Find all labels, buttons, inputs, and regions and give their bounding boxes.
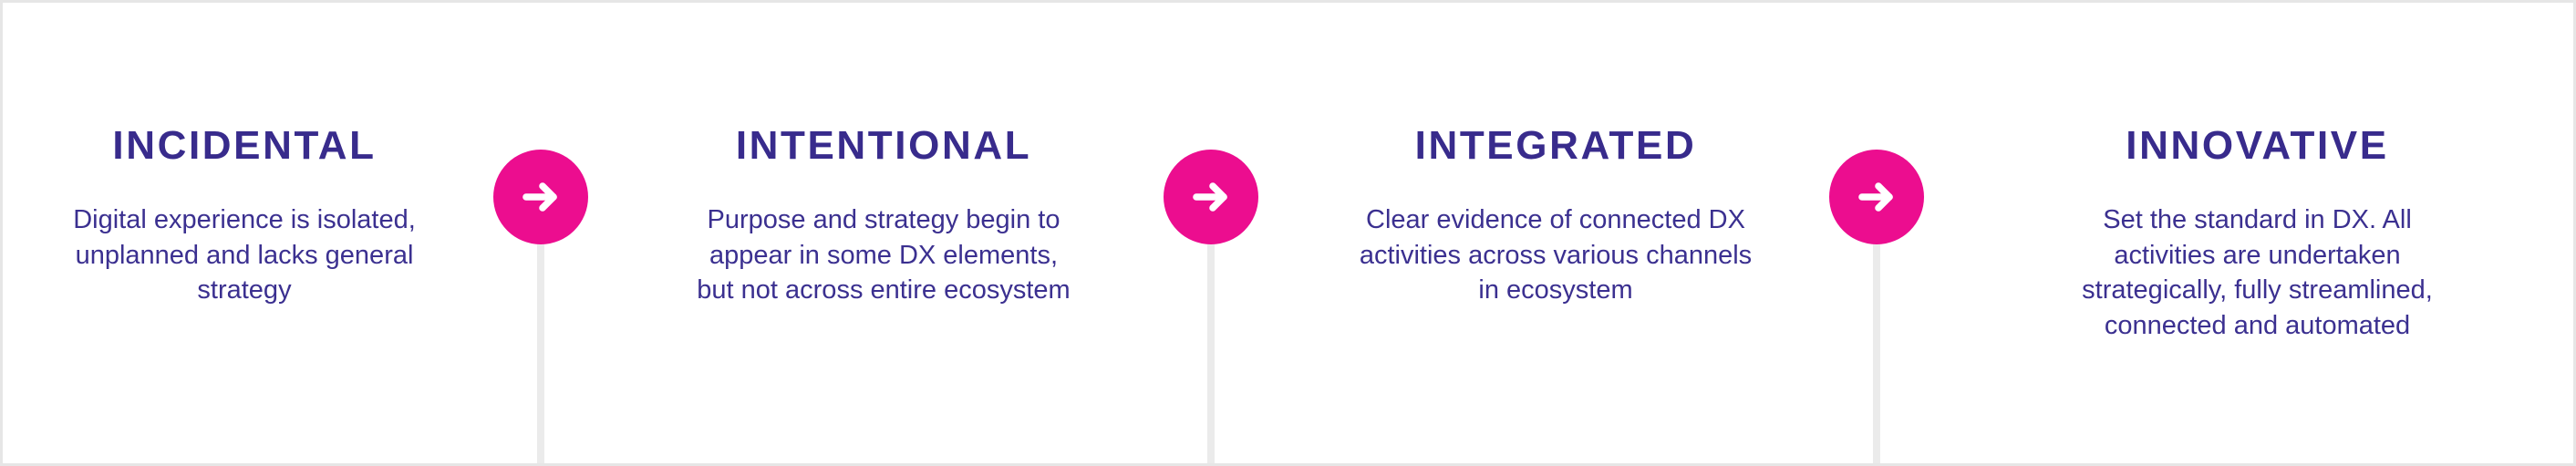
stage-description-line: connected and automated — [2027, 308, 2488, 344]
connector-3 — [1829, 3, 1924, 466]
arrow-right-icon — [1852, 172, 1901, 222]
maturity-model-diagram: INCIDENTAL Digital experience is isolate… — [0, 0, 2576, 466]
stage-title: INNOVATIVE — [1936, 126, 2576, 166]
stage-description-line: appear in some DX elements, — [618, 238, 1149, 274]
stage-description-line: unplanned and lacks general — [44, 238, 445, 274]
stage-description: Clear evidence of connected DX activitie… — [1273, 202, 1838, 308]
stage-description-line: strategically, fully streamlined, — [2027, 273, 2488, 308]
stage-integrated: INTEGRATED Clear evidence of connected D… — [1273, 3, 1838, 308]
stage-description: Digital experience is isolated, unplanne… — [3, 202, 486, 308]
arrow-right-icon — [516, 172, 565, 222]
stage-description-line: strategy — [44, 273, 445, 308]
stage-description-line: but not across entire ecosystem — [618, 273, 1149, 308]
arrow-right-icon — [1186, 172, 1236, 222]
stage-intentional: INTENTIONAL Purpose and strategy begin t… — [605, 3, 1163, 308]
stage-description-line: in ecosystem — [1287, 273, 1825, 308]
stage-description-line: Clear evidence of connected DX — [1287, 202, 1825, 238]
arrow-badge[interactable] — [1164, 150, 1258, 244]
stage-description-line: activities are undertaken — [2027, 238, 2488, 274]
connector-2 — [1164, 3, 1258, 466]
stage-description-line: Digital experience is isolated, — [44, 202, 445, 238]
stage-title: INTENTIONAL — [605, 126, 1163, 166]
stage-description: Set the standard in DX. All activities a… — [1936, 202, 2576, 343]
stage-incidental: INCIDENTAL Digital experience is isolate… — [3, 3, 486, 308]
stage-title: INTEGRATED — [1273, 126, 1838, 166]
stage-innovative: INNOVATIVE Set the standard in DX. All a… — [1936, 3, 2576, 343]
arrow-badge[interactable] — [493, 150, 588, 244]
stage-description-line: Set the standard in DX. All — [2027, 202, 2488, 238]
stage-description: Purpose and strategy begin to appear in … — [605, 202, 1163, 308]
connector-1 — [493, 3, 588, 466]
stage-description-line: Purpose and strategy begin to — [618, 202, 1149, 238]
stage-title: INCIDENTAL — [3, 126, 486, 166]
arrow-badge[interactable] — [1829, 150, 1924, 244]
stage-description-line: activities across various channels — [1287, 238, 1825, 274]
